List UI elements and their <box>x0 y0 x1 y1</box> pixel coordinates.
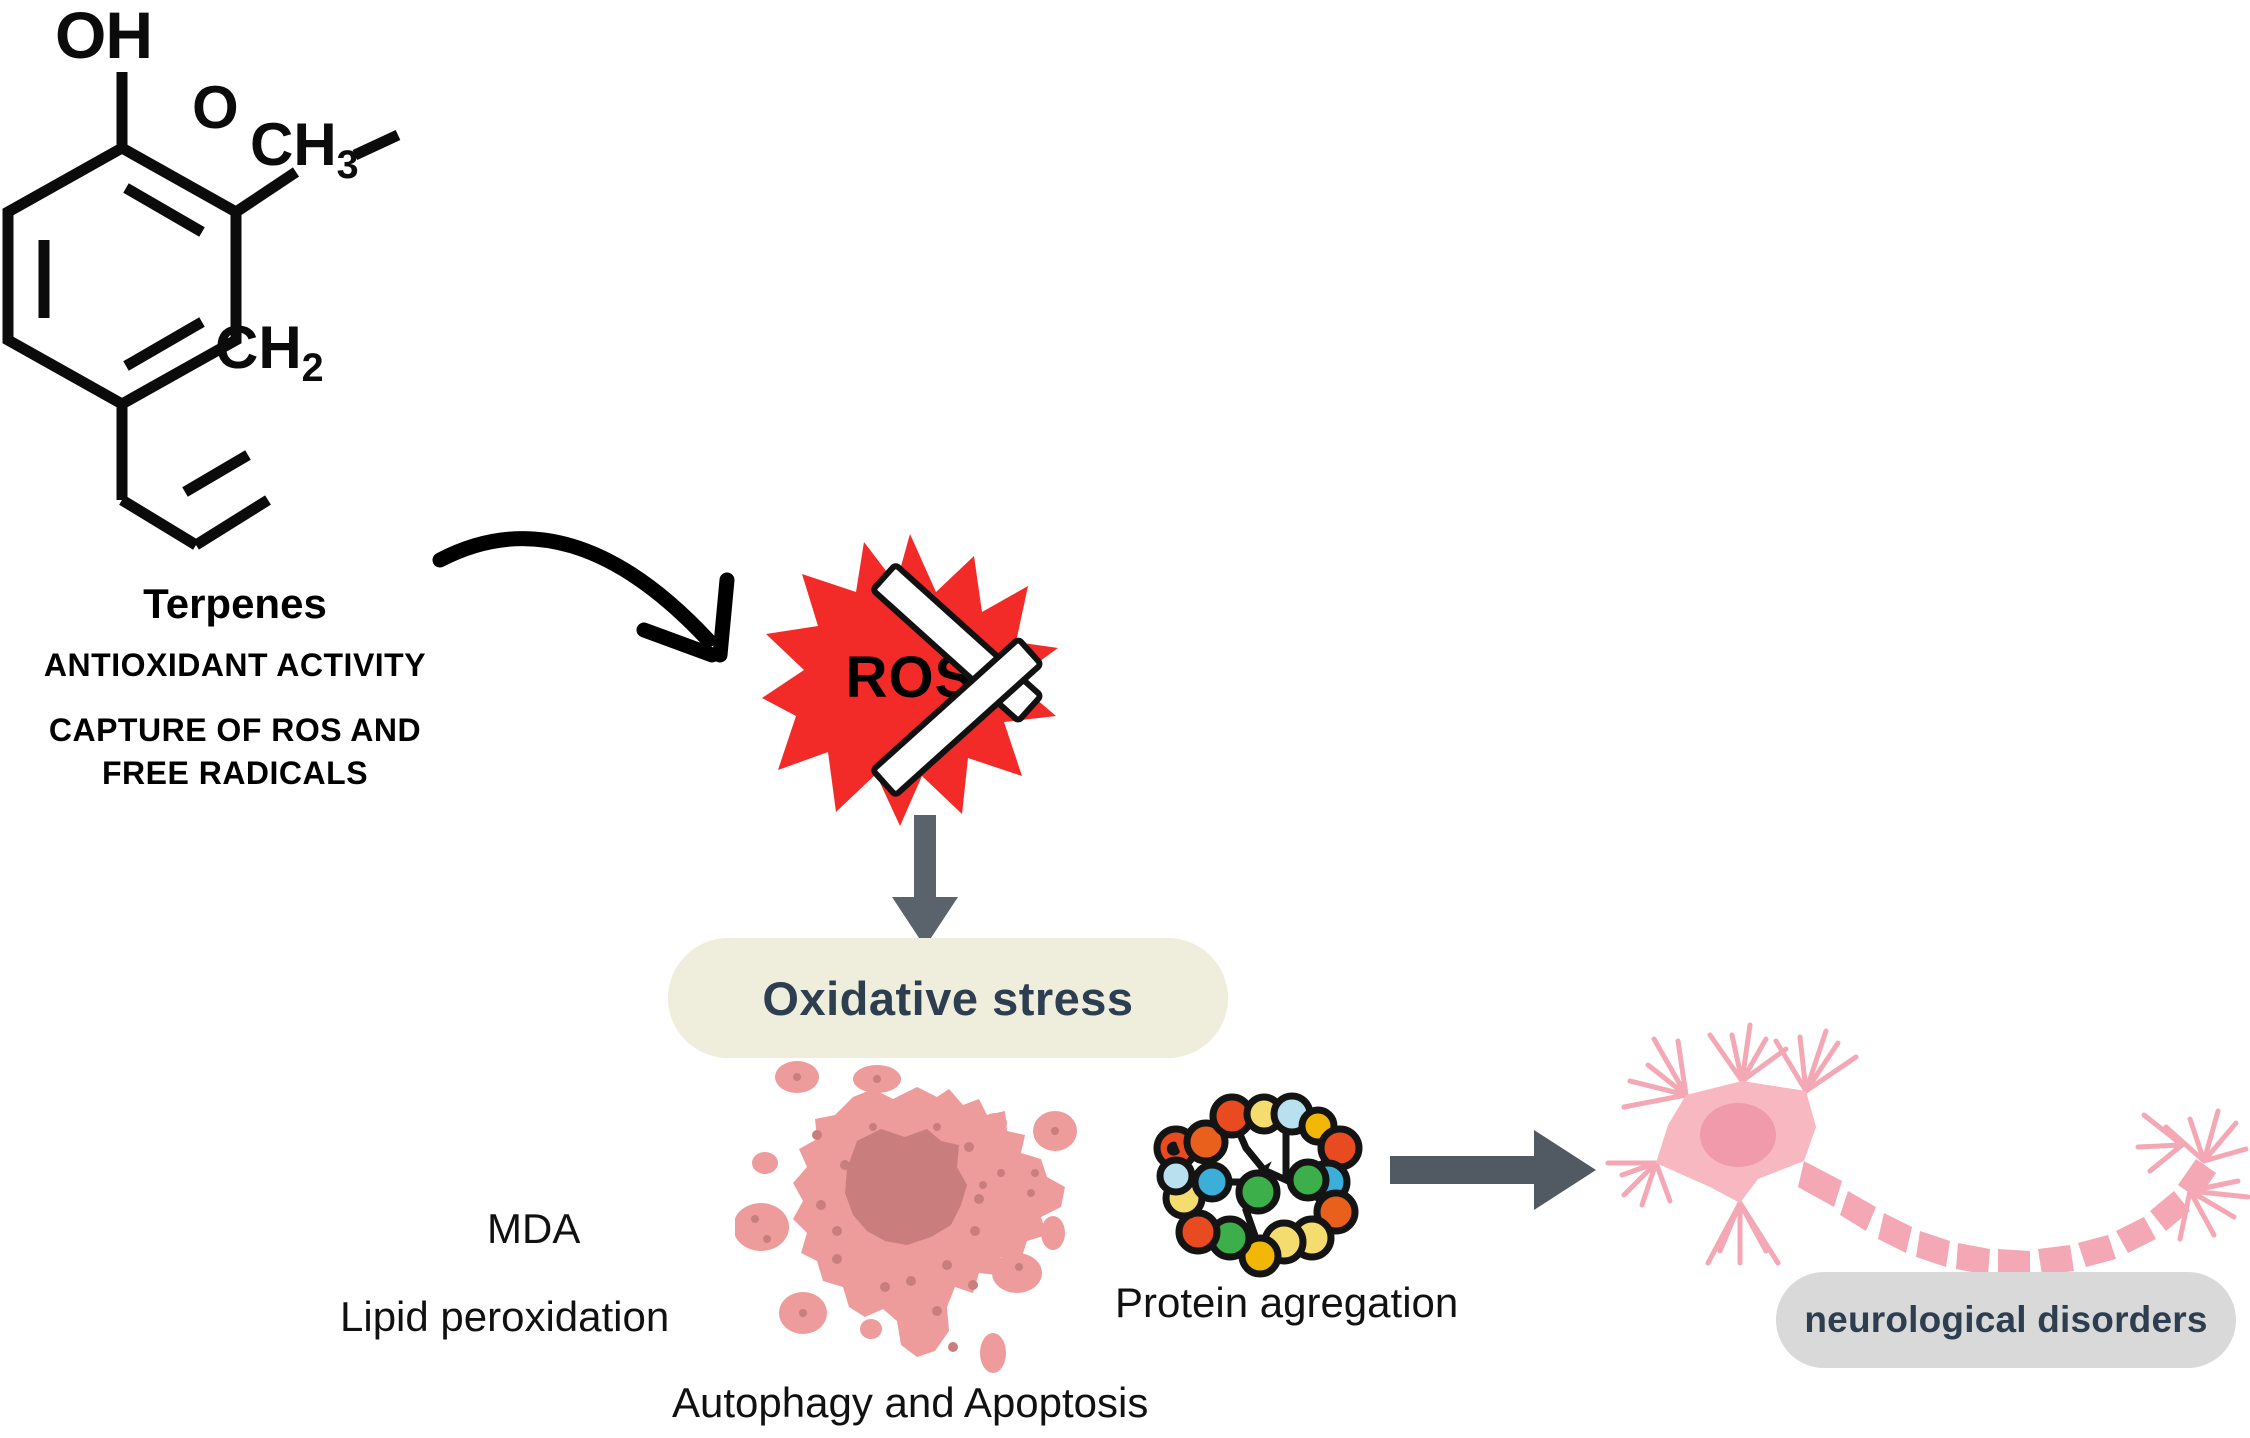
label-mda: MDA <box>487 1208 580 1250</box>
terpenes-text-block: Terpenes ANTIOXIDANT ACTIVITY CAPTURE OF… <box>0 580 470 796</box>
arrow-down-svg <box>880 815 970 950</box>
chem-label-o: O <box>192 78 239 138</box>
neuron-illustration <box>1590 995 2250 1295</box>
label-protein-aggregation: Protein agregation <box>1115 1282 1458 1324</box>
apoptotic-cell-svg <box>735 1045 1115 1395</box>
protein-cluster-svg <box>1140 1070 1380 1290</box>
apoptotic-cell-illustration <box>735 1045 1115 1395</box>
ros-starburst: ROS <box>760 530 1060 830</box>
terpenes-title: Terpenes <box>0 580 470 628</box>
ros-cross-out-icon <box>760 530 1060 830</box>
terpenes-capture-line-1: CAPTURE OF ROS AND <box>0 709 470 752</box>
diagram-canvas: OH O CH3 CH2 Terpenes ANTIOXIDANT ACTIVI… <box>0 0 2250 1438</box>
neuron-svg <box>1590 995 2250 1295</box>
oxidative-stress-badge[interactable]: Oxidative stress <box>668 938 1228 1058</box>
chem-label-ch2: CH2 <box>215 318 324 389</box>
chem-ch2-main: CH <box>215 314 302 381</box>
chem-label-oh: OH <box>55 2 152 68</box>
arrow-ros-to-oxidative-stress <box>880 815 970 950</box>
terpenes-antioxidant-activity: ANTIOXIDANT ACTIVITY <box>0 644 470 687</box>
chem-ch3-main: CH <box>250 111 337 178</box>
neurological-disorders-label: neurological disorders <box>1804 1299 2207 1341</box>
arrow-right-svg <box>1390 1120 1600 1220</box>
curved-arrow-svg <box>430 500 810 740</box>
chem-ch3-subscript: 3 <box>337 143 359 187</box>
label-lipid-peroxidation: Lipid peroxidation <box>340 1296 669 1338</box>
label-autophagy-apoptosis: Autophagy and Apoptosis <box>672 1382 1148 1424</box>
oxidative-stress-label: Oxidative stress <box>762 971 1133 1026</box>
protein-aggregate-illustration <box>1140 1070 1380 1290</box>
arrow-protein-to-neuron <box>1390 1120 1600 1220</box>
chem-ch2-subscript: 2 <box>302 346 324 390</box>
chem-label-ch3: CH3 <box>250 115 359 186</box>
curved-arrow-terpenes-to-ros <box>430 500 810 740</box>
terpenes-capture-line-2: FREE RADICALS <box>0 752 470 795</box>
neurological-disorders-badge[interactable]: neurological disorders <box>1776 1272 2236 1368</box>
